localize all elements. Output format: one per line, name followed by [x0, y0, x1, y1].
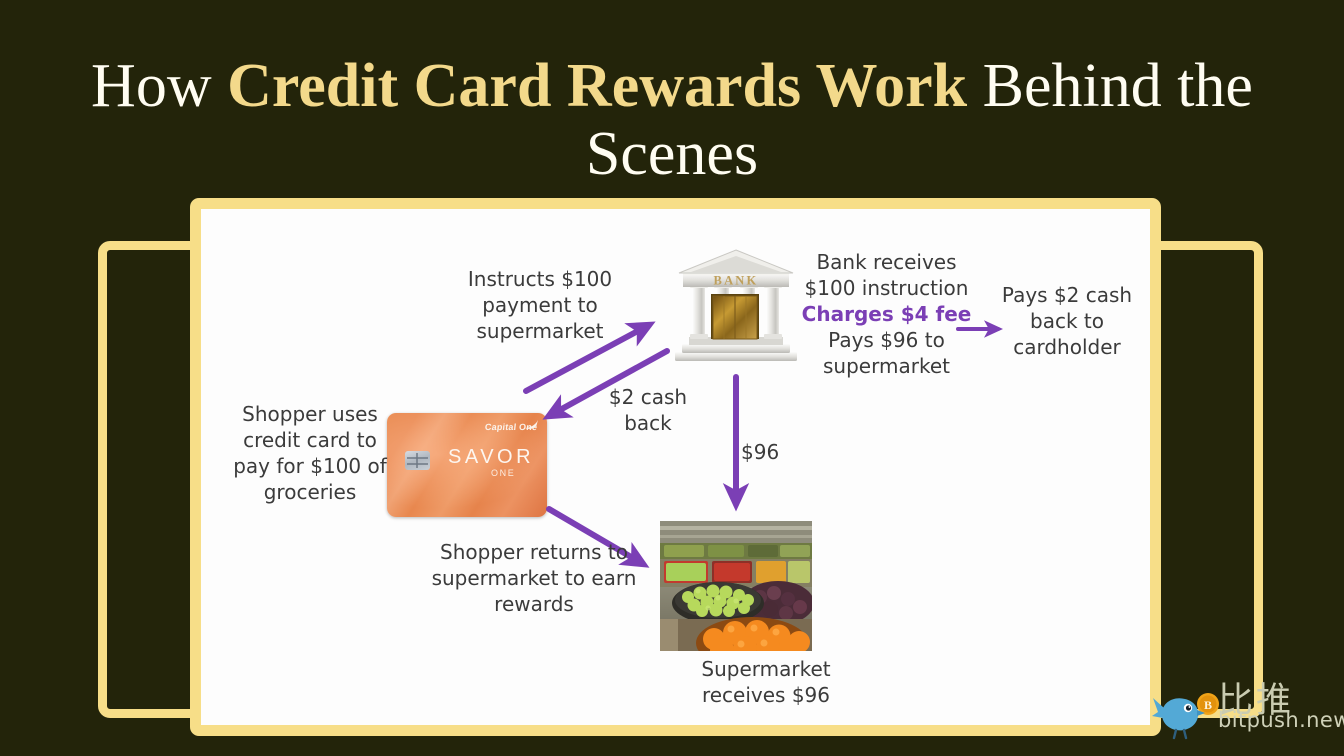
- rewards-flow-diagram: BANK SAVOR ONE Capital One: [201, 209, 1150, 725]
- bitpush-watermark: B 比推 bitpush.news: [1152, 676, 1342, 742]
- supermarket-photo: [660, 521, 812, 651]
- diagram-card: BANK SAVOR ONE Capital One: [190, 198, 1161, 736]
- credit-card-image: SAVOR ONE Capital One: [387, 413, 547, 517]
- page-title-part1: How: [91, 52, 227, 120]
- card-product-name: SAVOR: [448, 446, 534, 469]
- page-title-highlight: Credit Card Rewards Work: [227, 52, 967, 120]
- label-instructs-payment: Instructs $100 payment to supermarket: [445, 266, 635, 344]
- label-supermarket-receives: Supermarket receives $96: [666, 656, 866, 708]
- label-amount-96: $96: [741, 439, 811, 465]
- label-charges-fee: Charges $4 fee: [802, 302, 972, 326]
- label-shopper-returns: Shopper returns to supermarket to earn r…: [419, 539, 649, 617]
- label-cash-back-amount: $2 cash back: [588, 384, 708, 436]
- label-bank-receives: Bank receives $100 instruction Charges $…: [779, 249, 994, 379]
- page-title: How Credit Card Rewards Work Behind the …: [0, 52, 1344, 188]
- label-shopper-uses-card: Shopper uses credit card to pay for $100…: [215, 401, 405, 505]
- card-chip-icon: [405, 451, 430, 470]
- capital-one-swoosh-icon: [524, 419, 539, 431]
- card-tier-name: ONE: [491, 468, 515, 478]
- watermark-url-text: bitpush.news: [1218, 708, 1344, 732]
- bank-receives-line-1: Bank receives $100 instruction: [805, 250, 969, 300]
- svg-text:B: B: [1204, 698, 1212, 712]
- bank-receives-line-2: Pays $96 to supermarket: [823, 328, 950, 378]
- label-pays-cash-back: Pays $2 cash back to cardholder: [991, 282, 1143, 360]
- bank-sign-text: BANK: [714, 274, 759, 288]
